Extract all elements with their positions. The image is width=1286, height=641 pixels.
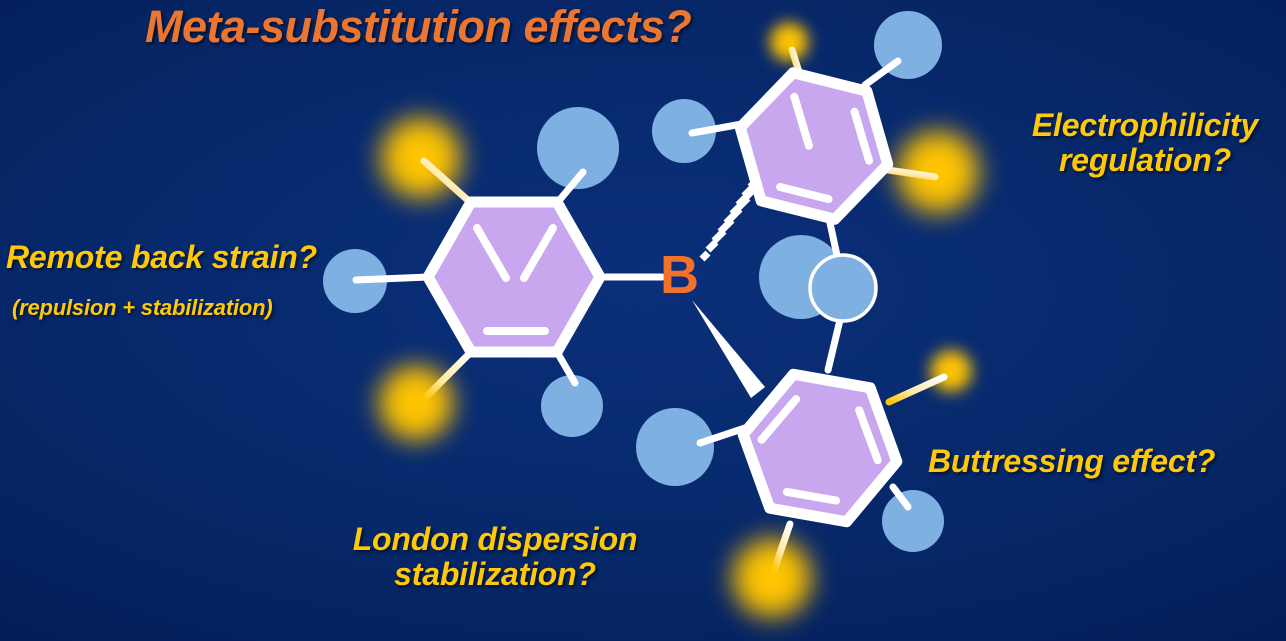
bond-line xyxy=(356,277,428,280)
blue-substituent xyxy=(882,490,944,552)
annotation-buttressing-effect: Buttressing effect? xyxy=(928,444,1215,479)
annotation-london-dispersion: London dispersion stabilization? xyxy=(330,522,660,591)
page-title: Meta-substitution effects? xyxy=(145,3,691,52)
blue-substituent xyxy=(636,408,714,486)
aryl-ring-top-right xyxy=(724,64,903,229)
bond-line xyxy=(828,320,840,370)
boron-atom-label: B xyxy=(660,248,699,302)
glow-substituent xyxy=(922,342,980,400)
annotation-remote-back-strain-sub: (repulsion + stabilization) xyxy=(12,296,272,320)
ring-hexagon xyxy=(724,64,903,229)
glow-substituent xyxy=(717,523,827,633)
blue-circle-front-outlined xyxy=(810,255,876,321)
annotation-remote-back-strain: Remote back strain? xyxy=(6,240,317,275)
aryl-ring-left xyxy=(428,202,600,352)
graphical-abstract-canvas: Meta-substitution effects? Remote back s… xyxy=(0,0,1286,641)
annotation-electrophilicity-regulation: Electrophilicity regulation? xyxy=(1006,108,1284,177)
bond-to-boron-bold-wedge xyxy=(692,300,765,398)
